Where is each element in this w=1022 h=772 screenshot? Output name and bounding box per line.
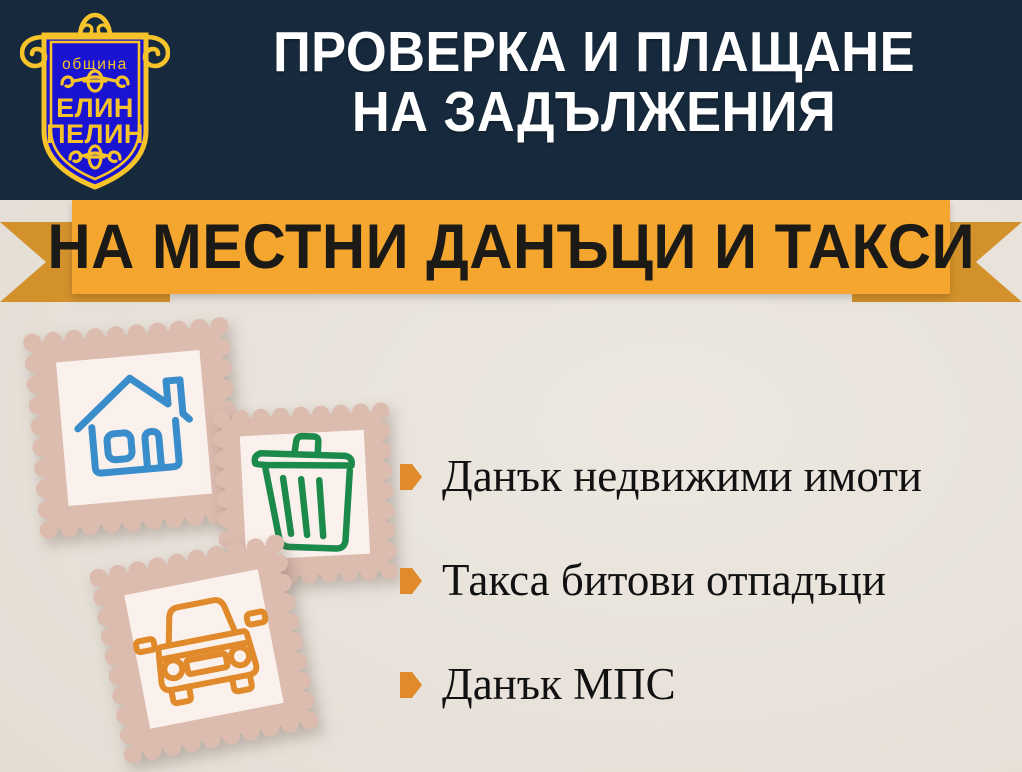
tax-type-list: Данък недвижими имоти Такса битови отпад…	[398, 424, 1008, 736]
ribbon-label: НА МЕСТНИ ДАНЪЦИ И ТАКСИ	[47, 216, 975, 279]
subtitle-ribbon: НА МЕСТНИ ДАНЪЦИ И ТАКСИ	[0, 200, 1022, 304]
list-item-label: Данък МПС	[442, 660, 676, 709]
list-item-label: Данък недвижими имоти	[442, 452, 922, 501]
list-item[interactable]: Такса битови отпадъци	[398, 528, 1008, 632]
page-title-line-1: ПРОВЕРКА И ПЛАЩАНЕ	[222, 22, 965, 82]
list-item[interactable]: Данък МПС	[398, 632, 1008, 736]
page-title-line-2: НА ЗАДЪЛЖЕНИЯ	[222, 82, 965, 142]
crest-icon: община ЕЛИН ПЕЛИН	[20, 11, 170, 197]
arrow-pentagon-bullet-icon	[398, 672, 424, 698]
poster-canvas: община ЕЛИН ПЕЛИН	[0, 0, 1022, 772]
page-header: община ЕЛИН ПЕЛИН	[0, 0, 1022, 200]
list-item[interactable]: Данък недвижими имоти	[398, 424, 1008, 528]
car-stamp-svg	[90, 535, 318, 763]
list-item-label: Такса битови отпадъци	[442, 556, 886, 605]
arrow-pentagon-bullet-icon	[398, 464, 424, 490]
stamp-card-car	[90, 535, 318, 768]
ribbon-band: НА МЕСТНИ ДАНЪЦИ И ТАКСИ	[72, 200, 950, 294]
arrow-pentagon-bullet-icon	[398, 568, 424, 594]
municipality-logo: община ЕЛИН ПЕЛИН	[0, 8, 190, 200]
page-title: ПРОВЕРКА И ПЛАЩАНЕ НА ЗАДЪЛЖЕНИЯ	[190, 8, 1022, 143]
